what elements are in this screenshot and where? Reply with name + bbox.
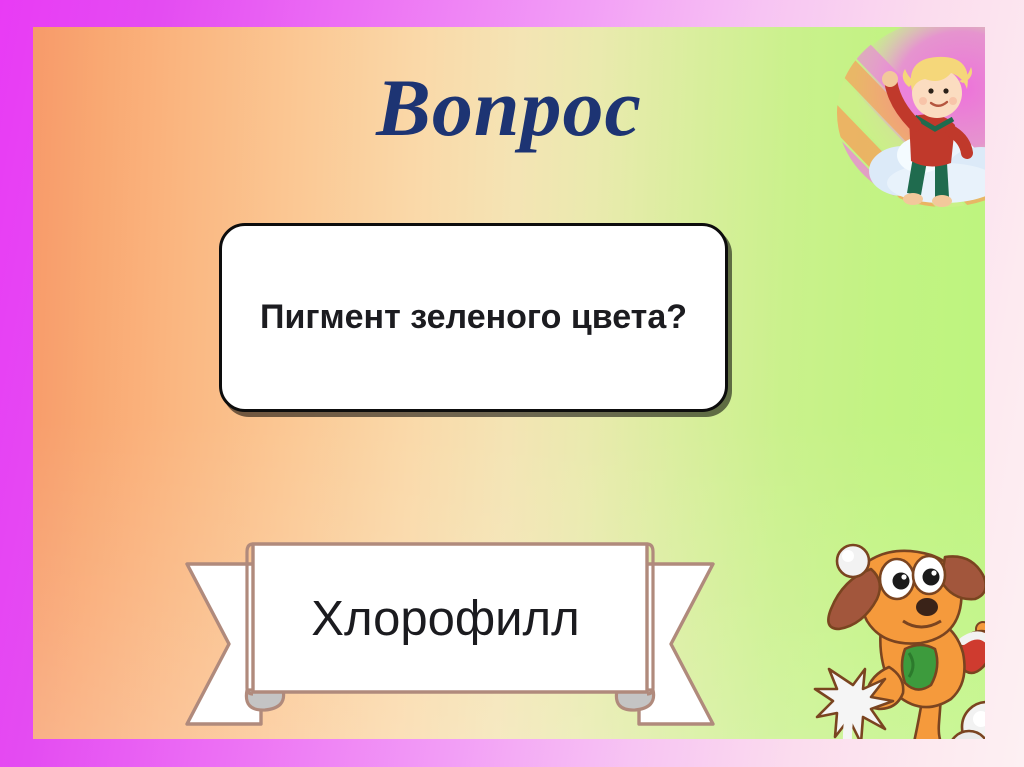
answer-ribbon-banner[interactable]: Хлорофилл [183, 530, 717, 730]
page-title: Вопрос [33, 67, 985, 149]
question-text: Пигмент зеленого цвета? [234, 291, 713, 344]
question-box[interactable]: Пигмент зеленого цвета? [219, 223, 728, 412]
presentation-slide: Вопрос Пигмент зеленого цвета? [0, 0, 1024, 767]
dog-throwing-snowballs-icon [805, 517, 985, 739]
slide-artboard: Вопрос Пигмент зеленого цвета? [33, 27, 985, 739]
answer-text: Хлорофилл [253, 530, 638, 708]
